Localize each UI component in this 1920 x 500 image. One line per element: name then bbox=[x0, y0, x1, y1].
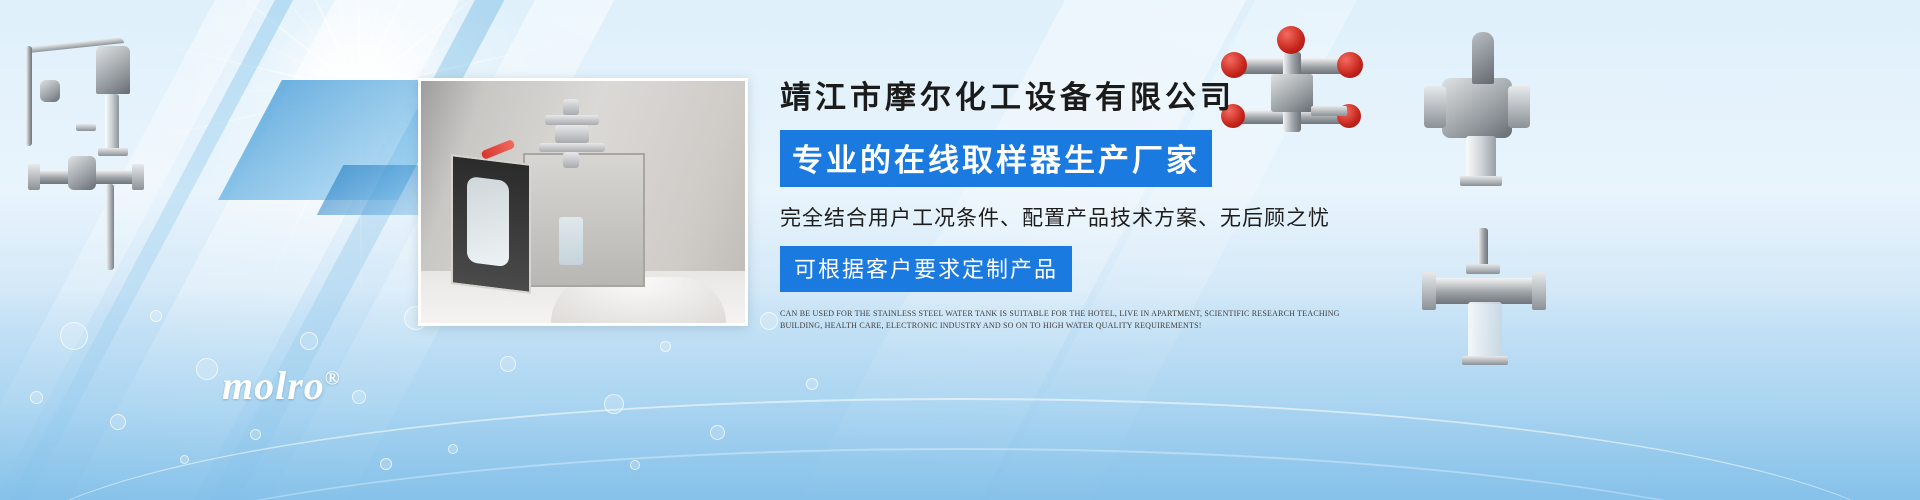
bubble-icon bbox=[630, 460, 640, 470]
english-caption: CAN BE USED FOR THE STAINLESS STEEL WATE… bbox=[780, 308, 1380, 333]
left-equipment-image bbox=[10, 20, 190, 310]
bubble-icon bbox=[110, 414, 126, 430]
photo-cabinet-door bbox=[451, 154, 531, 294]
bubble-icon bbox=[180, 455, 189, 464]
bubble-icon bbox=[352, 390, 366, 404]
sub-headline: 完全结合用户工况条件、配置产品技术方案、无后顾之忧 bbox=[780, 202, 1420, 232]
banner-text-block: 靖江市摩尔化工设备有限公司 专业的在线取样器生产厂家 完全结合用户工况条件、配置… bbox=[780, 80, 1420, 332]
promo-banner: molro® bbox=[0, 0, 1920, 500]
registered-mark-icon: ® bbox=[325, 368, 341, 390]
bubble-icon bbox=[604, 394, 624, 414]
bubble-icon bbox=[196, 358, 218, 380]
bubble-icon bbox=[500, 356, 516, 372]
bubble-icon bbox=[806, 378, 818, 390]
brand-watermark: molro® bbox=[222, 362, 341, 409]
photo-door-window bbox=[467, 176, 509, 267]
bubble-icon bbox=[760, 312, 778, 330]
bubble-icon bbox=[60, 322, 88, 350]
photo-cabinet bbox=[523, 153, 645, 287]
bubble-icon bbox=[710, 425, 725, 440]
right-equipment-image bbox=[1420, 28, 1540, 188]
bubble-icon bbox=[380, 458, 392, 470]
bubble-icon bbox=[150, 310, 162, 322]
watermark-text: molro bbox=[222, 363, 325, 408]
custom-product-badge: 可根据客户要求定制产品 bbox=[780, 246, 1072, 292]
bubble-icon bbox=[30, 391, 43, 404]
bubble-icon bbox=[660, 341, 671, 352]
photo-valve-assembly bbox=[533, 99, 625, 163]
bubble-icon bbox=[448, 444, 458, 454]
photo-sample-bottle bbox=[559, 217, 583, 265]
bottom-right-equipment-image bbox=[1420, 228, 1550, 378]
product-photo bbox=[418, 78, 748, 326]
photo-red-handle bbox=[481, 139, 516, 160]
bubble-icon bbox=[250, 429, 261, 440]
company-name: 靖江市摩尔化工设备有限公司 bbox=[780, 80, 1420, 116]
headline-badge: 专业的在线取样器生产厂家 bbox=[780, 130, 1212, 187]
bubble-icon bbox=[300, 332, 318, 350]
